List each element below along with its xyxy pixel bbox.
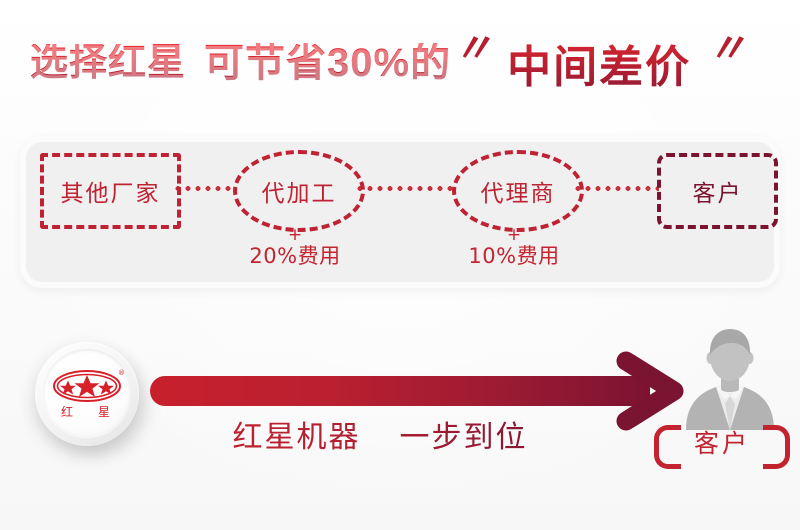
- connector-2: [355, 186, 457, 191]
- page-title: 选择红星 可节省30%的 〃 中间差价 〃: [30, 30, 790, 96]
- supply-chain-flow: 其他厂家 代加工 + 20%费用 代理商 + 10%费用 客户: [20, 136, 780, 288]
- connector-1: [173, 186, 235, 191]
- plus-icon: +: [434, 228, 594, 243]
- svg-text:®: ®: [118, 369, 125, 377]
- connector-3: [573, 186, 659, 191]
- flow-node-customer[interactable]: 客户: [657, 153, 778, 229]
- poster-canvas: 选择红星 可节省30%的 〃 中间差价 〃 其他厂家 代加工 + 20%费用: [0, 0, 800, 530]
- fee-amount: 20%费用: [215, 243, 375, 269]
- flow-fee-contract-processing: + 20%费用: [215, 228, 375, 269]
- flow-node-contract-processing[interactable]: 代加工: [233, 150, 365, 232]
- fee-amount: 10%费用: [434, 243, 594, 269]
- headline-lead: 选择红星: [30, 44, 186, 82]
- customer-label-tag: 客户: [648, 422, 796, 462]
- hongxing-logo-badge[interactable]: ® 红 星: [35, 342, 139, 446]
- flow-node-label: 客户: [693, 174, 743, 208]
- flow-fee-agent: + 10%费用: [434, 228, 594, 269]
- plus-icon: +: [215, 228, 375, 243]
- svg-text:星: 星: [98, 405, 110, 419]
- supply-chain-panel: 其他厂家 代加工 + 20%费用 代理商 + 10%费用 客户: [20, 136, 780, 288]
- svg-text:红: 红: [61, 404, 73, 419]
- tagline-brand: 红星机器: [232, 420, 360, 455]
- flow-node-agent[interactable]: 代理商: [452, 150, 584, 232]
- bracket-right-icon: [763, 425, 790, 469]
- bracket-left-icon: [654, 425, 681, 469]
- customer-label: 客户: [694, 424, 750, 460]
- flow-node-label: 代理商: [481, 174, 556, 208]
- flow-node-label: 其他厂家: [61, 174, 161, 208]
- flow-node-label: 代加工: [262, 174, 337, 208]
- quote-open-icon: 〃: [452, 29, 499, 69]
- quote-close-icon: 〃: [706, 29, 753, 69]
- hongxing-logo-icon: ® 红 星: [48, 365, 126, 421]
- headline-middle: 可节省30%的: [204, 43, 451, 83]
- headline-emphasis: 中间差价: [507, 31, 691, 95]
- tagline-claim: 一步到位: [400, 420, 528, 455]
- flow-node-other-manufacturer[interactable]: 其他厂家: [40, 153, 181, 229]
- bottom-tagline: 红星机器 一步到位: [180, 412, 580, 456]
- businessman-avatar-icon: [676, 326, 784, 430]
- process-arrow-shaft: [150, 376, 650, 406]
- logo-inner-disc: ® 红 星: [43, 349, 131, 437]
